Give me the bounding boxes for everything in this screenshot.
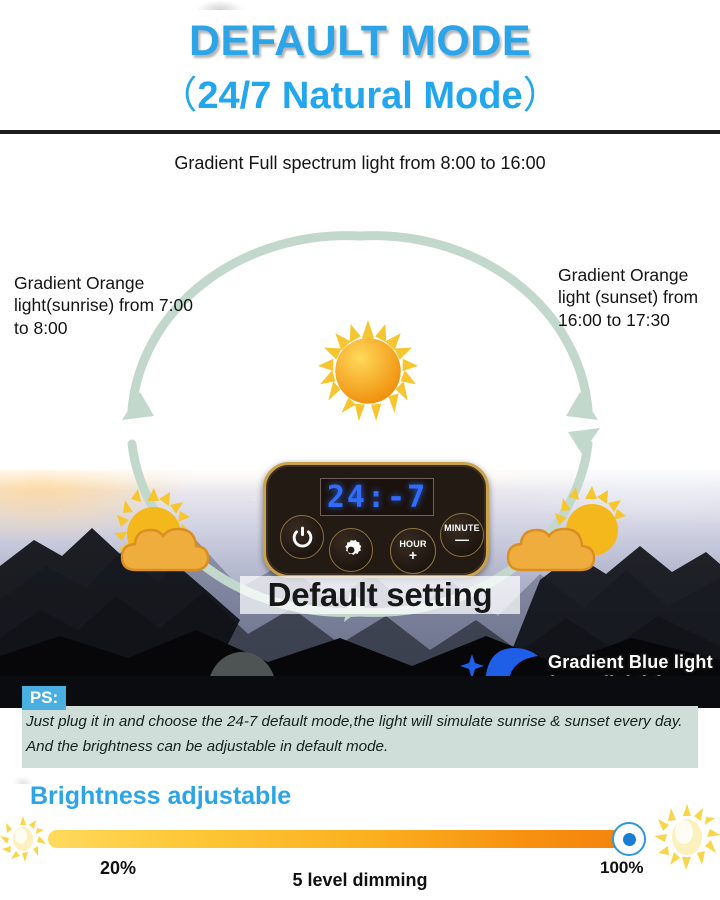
cycle-diagram: Gradient Full spectrum light from 8:00 t… <box>0 134 720 680</box>
power-icon <box>290 525 315 550</box>
gear-icon <box>339 538 363 562</box>
header-smudge <box>196 0 244 10</box>
sun-behind-cloud-icon <box>100 486 230 578</box>
label-sunset: Gradient Orange light (sunset) from 16:0… <box>558 264 720 331</box>
minute-button-labels: MINUTE — <box>444 524 480 546</box>
brightness-title: Brightness adjustable <box>30 782 291 811</box>
header-banner: DEFAULT MODE （24/7 Natural Mode） <box>0 0 720 132</box>
lcd-display: 24:-7 <box>320 478 434 516</box>
label-full-spectrum: Gradient Full spectrum light from 8:00 t… <box>0 152 720 175</box>
sun-icon <box>317 320 419 422</box>
power-button[interactable] <box>280 515 324 559</box>
timer-controller[interactable]: 24:-7 HOUR + MINUTE — <box>263 462 489 578</box>
small-sun-icon <box>0 816 46 862</box>
dimming-caption: 5 level dimming <box>0 870 720 891</box>
label-moonlight-line1: Gradient Blue light <box>548 652 720 673</box>
hour-plus-button[interactable]: HOUR + <box>390 528 436 574</box>
hour-plus-sign: + <box>409 548 417 562</box>
paren-open: （ <box>159 75 197 117</box>
ps-badge: PS: <box>22 686 66 710</box>
page-subtitle: （24/7 Natural Mode） <box>0 77 720 115</box>
brightness-section: Brightness adjustable 20% 100% 5 level d… <box>0 776 720 900</box>
settings-button[interactable] <box>329 528 373 572</box>
page-title: DEFAULT MODE <box>0 20 720 63</box>
minute-minus-button[interactable]: MINUTE — <box>440 513 484 557</box>
brightness-slider-track[interactable] <box>48 830 628 848</box>
paren-close: ） <box>523 75 561 117</box>
minute-minus-sign: — <box>455 532 469 546</box>
page-subtitle-text: 24/7 Natural Mode <box>197 75 522 117</box>
ps-dark-strip <box>0 676 720 708</box>
ps-note: PS: Just plug it in and choose the 24-7 … <box>22 706 698 768</box>
sun-behind-cloud-icon <box>496 486 626 578</box>
label-sunrise: Gradient Orange light(sunrise) from 7:00… <box>14 272 210 339</box>
large-sun-icon <box>654 804 720 870</box>
default-setting-caption: Default setting <box>240 576 520 614</box>
lcd-value: 24:-7 <box>321 479 433 515</box>
crescent-moon-stars-icon <box>458 646 548 680</box>
ps-text: Just plug it in and choose the 24-7 defa… <box>26 710 690 759</box>
hour-button-labels: HOUR + <box>399 540 426 562</box>
brightness-slider-handle[interactable] <box>612 822 646 856</box>
slider-handle-dot <box>623 833 636 846</box>
